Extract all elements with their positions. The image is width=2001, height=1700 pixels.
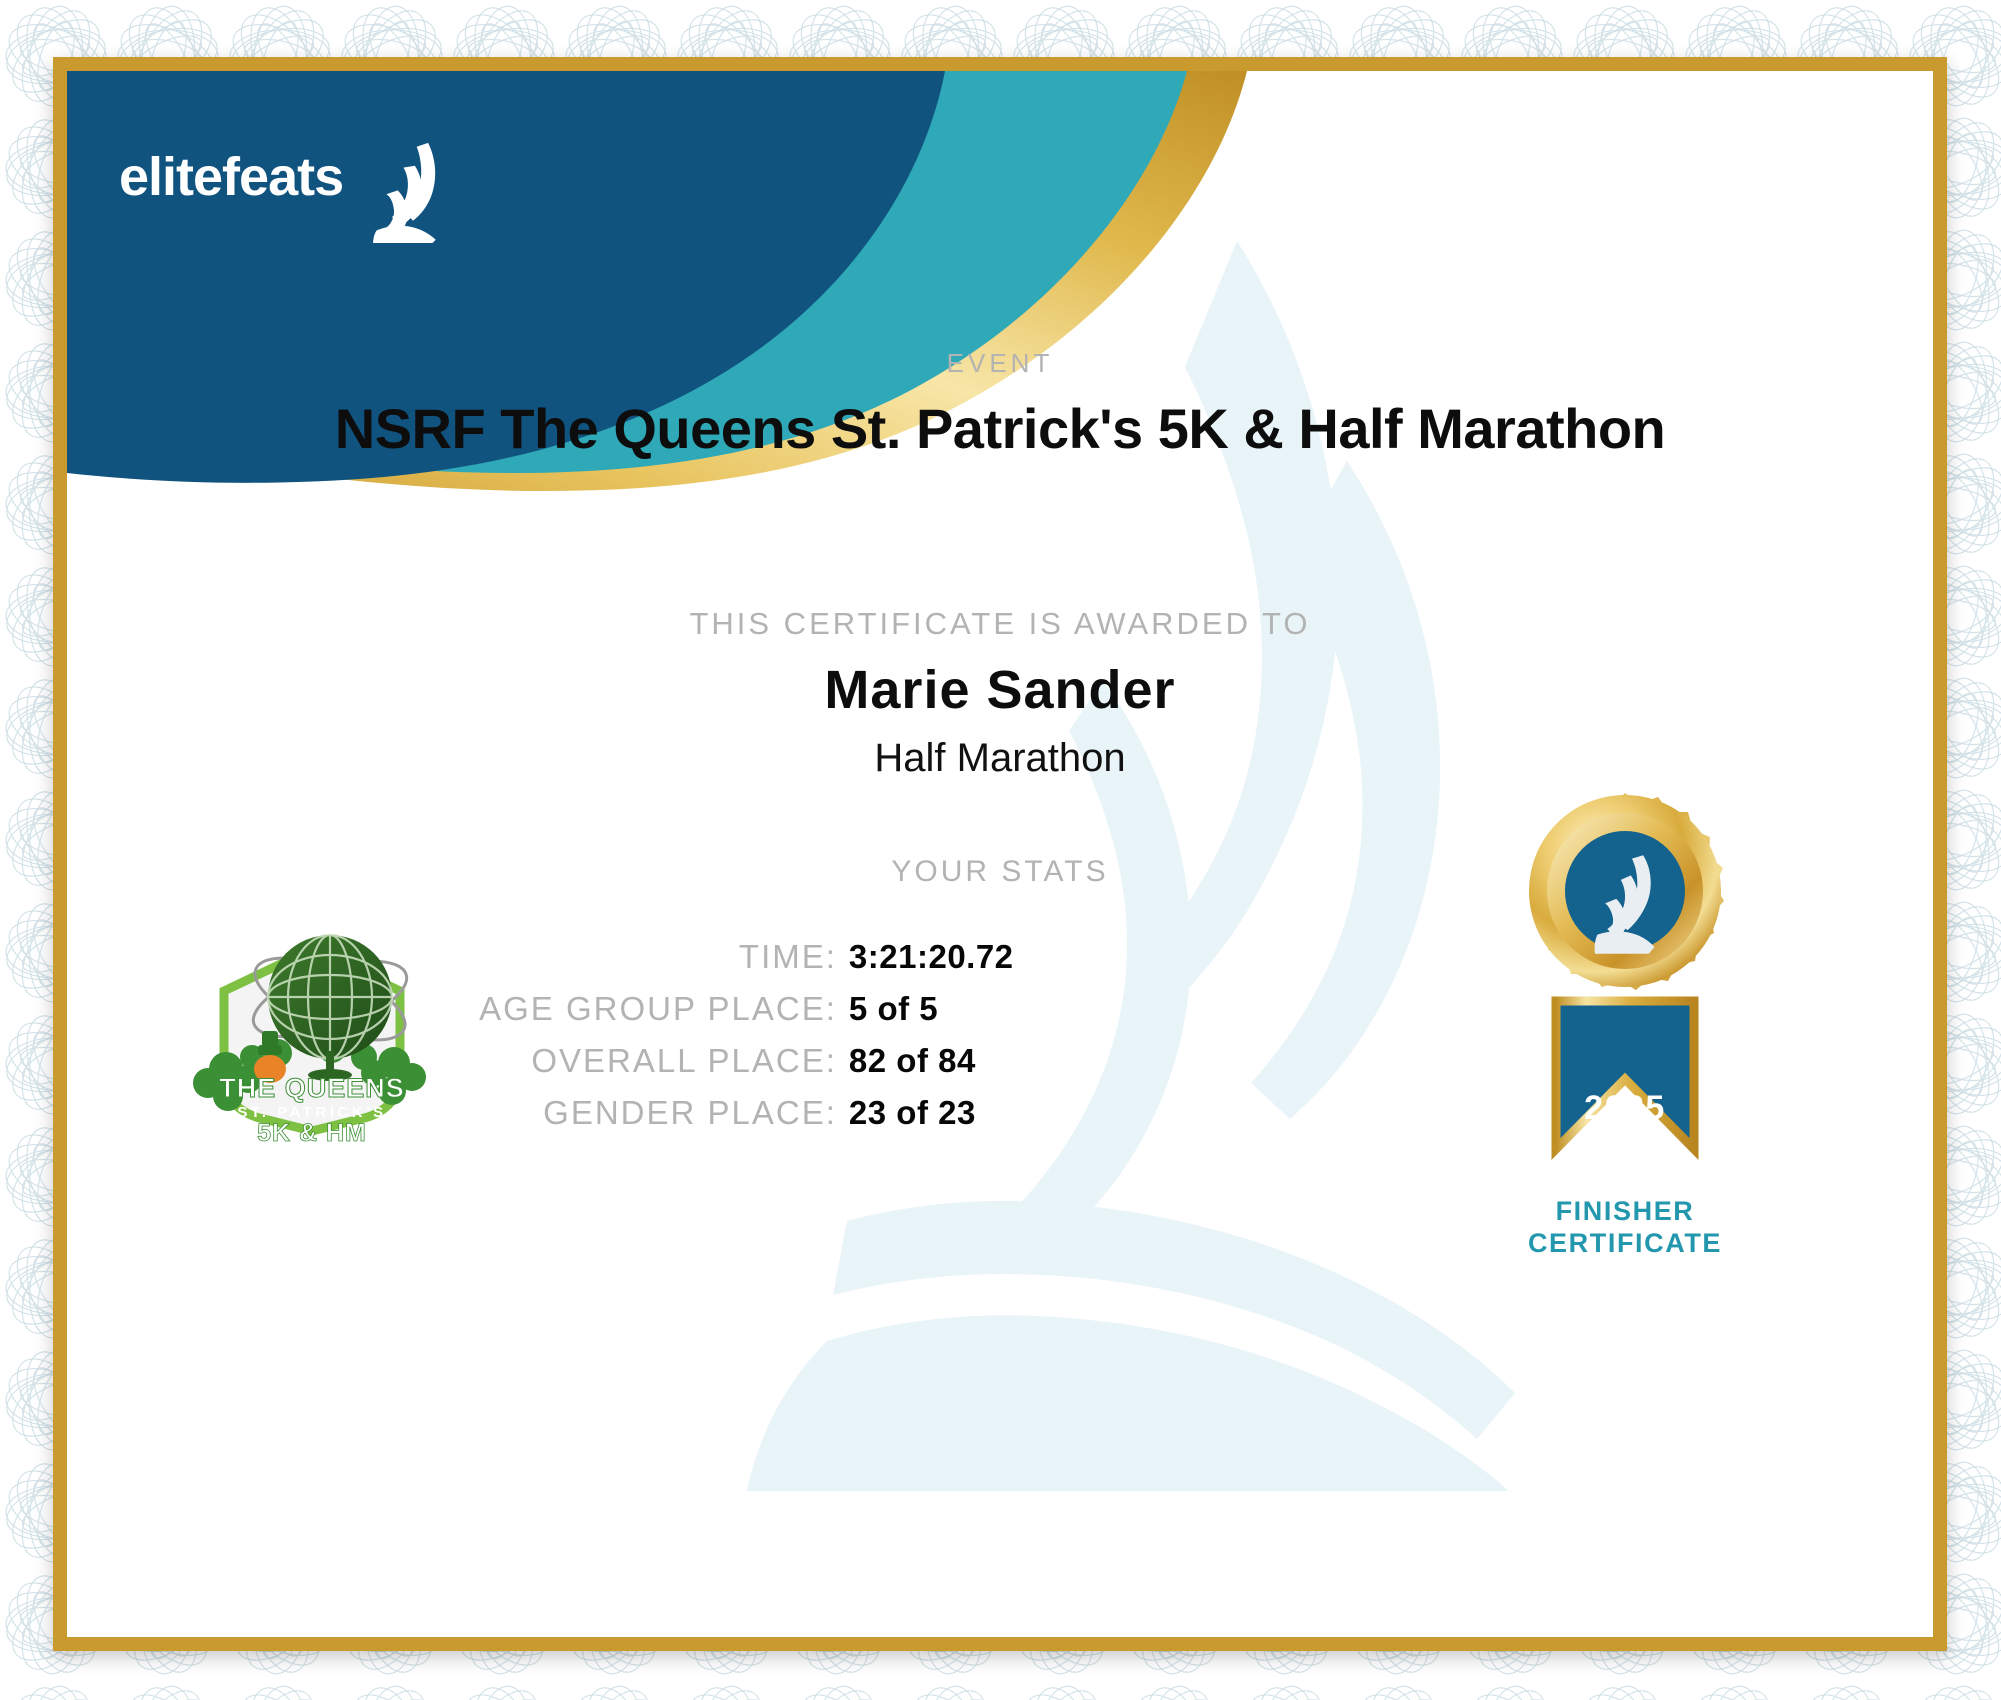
race-logo-line3: 5K & HM <box>257 1119 367 1146</box>
awarded-to-label: THIS CERTIFICATE IS AWARDED TO <box>67 606 1933 642</box>
stat-value-time: 3:21:20.72 <box>849 931 1197 983</box>
certificate-frame: elitefeats EVENT NSRF The Queens St. Pat… <box>53 57 1947 1651</box>
badge-caption-line1: FINISHER <box>1447 1196 1803 1228</box>
stat-value-age-group-place: 5 of 5 <box>849 983 1197 1035</box>
badge-year: 2025 <box>1584 1089 1666 1127</box>
finisher-medal-badge: 2025 <box>1480 791 1770 1201</box>
certificate-body: elitefeats EVENT NSRF The Queens St. Pat… <box>67 71 1933 1637</box>
badge-caption: FINISHER CERTIFICATE <box>1447 1196 1803 1260</box>
event-label: EVENT <box>67 348 1933 379</box>
stat-value-gender-place: 23 of 23 <box>849 1087 1197 1139</box>
race-event-logo: THE QUEENS ST. PATRICK'S 5K & HM <box>182 891 442 1146</box>
elitefeats-logo: elitefeats <box>119 133 459 243</box>
brand-wordmark: elitefeats <box>119 147 343 207</box>
medal-starburst <box>1529 793 1724 990</box>
recipient-name: Marie Sander <box>67 659 1933 721</box>
badge-caption-line2: CERTIFICATE <box>1447 1228 1803 1260</box>
race-logo-line1: THE QUEENS <box>219 1073 405 1103</box>
certificate-page: elitefeats EVENT NSRF The Queens St. Pat… <box>0 0 2001 1700</box>
stat-value-overall-place: 82 of 84 <box>849 1035 1197 1087</box>
event-title: NSRF The Queens St. Patrick's 5K & Half … <box>67 396 1933 461</box>
winged-foot-icon <box>373 143 436 243</box>
event-division: Half Marathon <box>67 736 1933 781</box>
